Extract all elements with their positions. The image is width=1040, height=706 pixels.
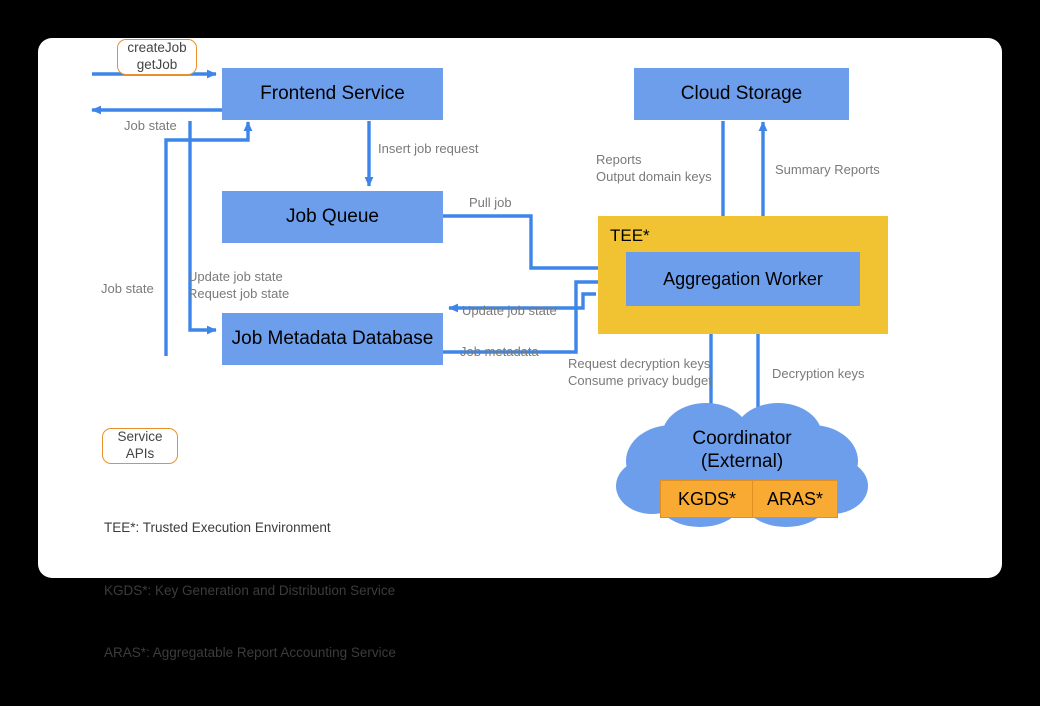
- job-queue-label: Job Queue: [286, 206, 379, 228]
- callout-service-apis-client: createJob getJob: [117, 39, 197, 75]
- legend-notes: TEE*: Trusted Execution Environment KGDS…: [104, 476, 396, 706]
- legend-service-line2: APIs: [126, 446, 155, 463]
- job-metadata-database-label: Job Metadata Database: [232, 328, 434, 350]
- callout-get-job: getJob: [137, 57, 178, 74]
- legend-note-kgds: KGDS*: Key Generation and Distribution S…: [104, 581, 396, 602]
- legend-service-apis-box: Service APIs: [102, 428, 178, 464]
- coordinator-subtitle: (External): [642, 451, 842, 474]
- coordinator-text-group: Coordinator (External): [642, 428, 842, 474]
- node-frontend-service[interactable]: Frontend Service: [222, 68, 443, 120]
- edge-label-decryption-keys: Decryption keys: [772, 365, 864, 382]
- node-job-metadata-database[interactable]: Job Metadata Database: [222, 313, 443, 365]
- cloud-storage-label: Cloud Storage: [681, 83, 802, 105]
- edge-label-reports-output-domain-keys: Reports Output domain keys: [596, 151, 712, 185]
- node-kgds[interactable]: KGDS*: [660, 480, 754, 518]
- legend-note-tee: TEE*: Trusted Execution Environment: [104, 518, 396, 539]
- coordinator-title: Coordinator: [642, 428, 842, 451]
- frontend-service-label: Frontend Service: [260, 83, 405, 105]
- edge-label-update-job-state-right: Update job state: [462, 302, 557, 319]
- edge-label-insert-job-request: Insert job request: [378, 140, 478, 157]
- node-aggregation-worker[interactable]: Aggregation Worker: [626, 252, 860, 306]
- aggregation-worker-label: Aggregation Worker: [663, 269, 823, 290]
- edge-label-pull-job: Pull job: [469, 194, 512, 211]
- node-cloud-storage[interactable]: Cloud Storage: [634, 68, 849, 120]
- edge-label-job-state-left: Job state: [101, 280, 154, 297]
- edge-label-request-decryption-keys: Request decryption keys Consume privacy …: [568, 355, 712, 389]
- diagram-canvas: Frontend Service Job Queue Job Metadata …: [0, 0, 1040, 620]
- callout-create-job: createJob: [127, 40, 186, 57]
- edge-label-summary-reports: Summary Reports: [775, 161, 880, 178]
- legend-service-line1: Service: [117, 429, 162, 446]
- tee-region-label: TEE*: [610, 226, 650, 246]
- node-job-queue[interactable]: Job Queue: [222, 191, 443, 243]
- node-aras[interactable]: ARAS*: [752, 480, 838, 518]
- legend-note-aras: ARAS*: Aggregatable Report Accounting Se…: [104, 643, 396, 664]
- edge-label-update-request-job-state: Update job state Request job state: [188, 268, 289, 302]
- kgds-label: KGDS*: [678, 489, 736, 510]
- edge-label-job-metadata: Job metadata: [460, 343, 539, 360]
- edge-label-job-state-out: Job state: [124, 117, 177, 134]
- aras-label: ARAS*: [767, 489, 823, 510]
